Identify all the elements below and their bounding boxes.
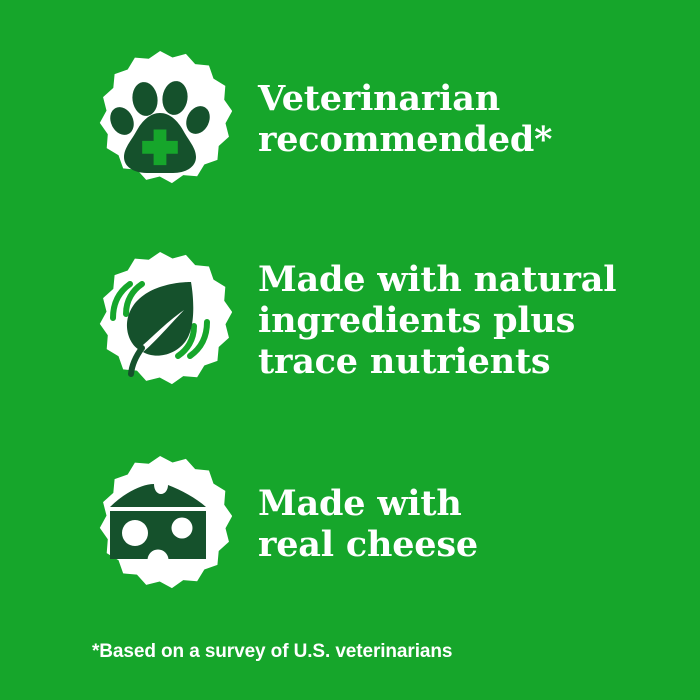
benefit-label-veterinarian: Veterinarian recommended*	[258, 78, 552, 160]
cheese-wedge-icon	[88, 452, 232, 596]
benefit-label-natural-ingredients: Made with natural ingredients plus trace…	[258, 259, 616, 382]
benefit-item-real-cheese: Made with real cheese	[0, 452, 700, 596]
badge-veterinarian	[88, 47, 232, 191]
footnote-disclaimer: *Based on a survey of U.S. veterinarians	[92, 641, 452, 663]
paw-with-medical-cross-icon	[88, 47, 232, 191]
benefit-label-real-cheese: Made with real cheese	[258, 483, 478, 565]
badge-real-cheese	[88, 452, 232, 596]
badge-natural-ingredients	[88, 248, 232, 392]
benefits-panel: Veterinarian recommended* Made with natu…	[0, 0, 700, 700]
leaf-with-motion-lines-icon	[88, 248, 232, 392]
benefit-item-natural-ingredients: Made with natural ingredients plus trace…	[0, 248, 700, 392]
benefit-item-veterinarian: Veterinarian recommended*	[0, 47, 700, 191]
